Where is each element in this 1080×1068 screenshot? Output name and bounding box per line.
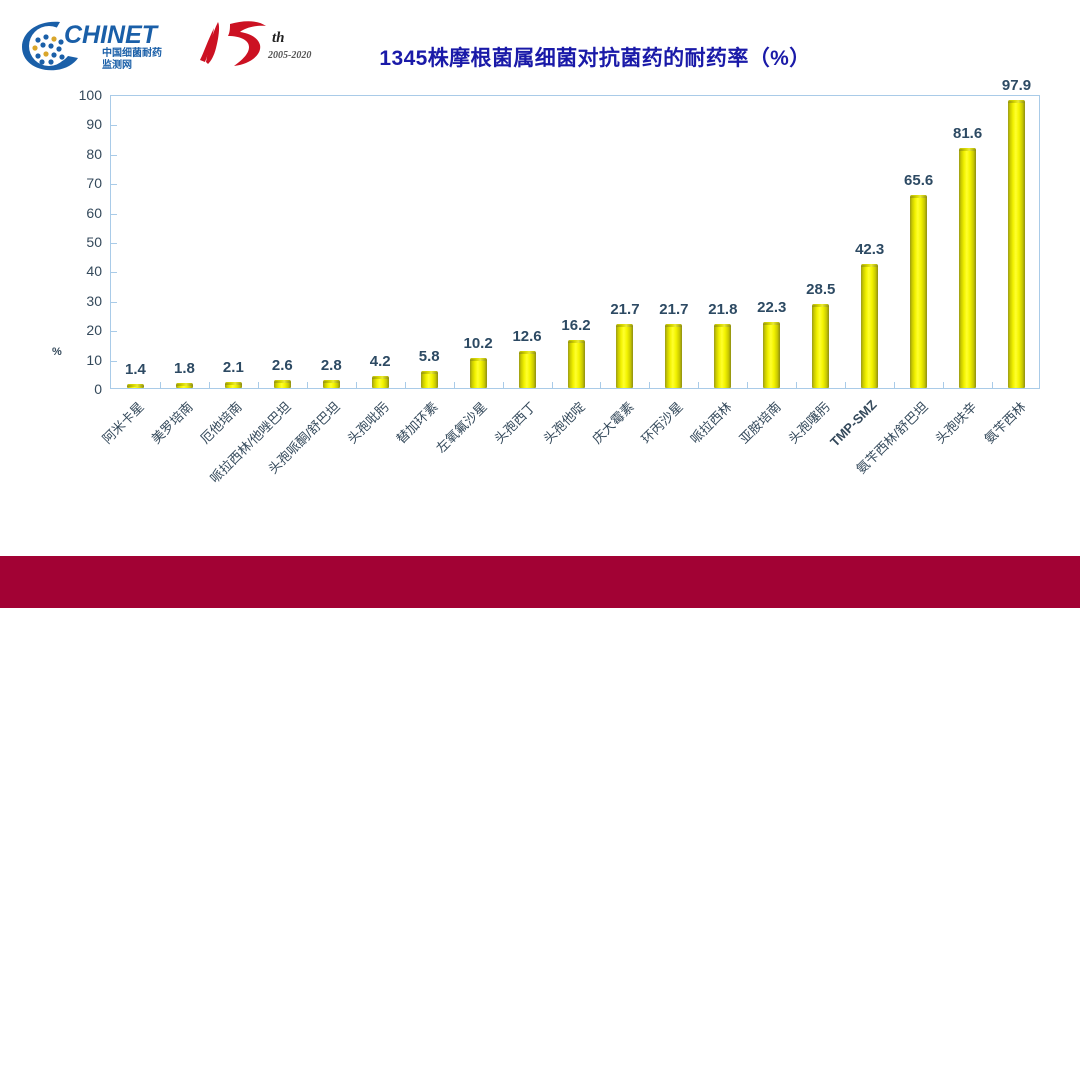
bar xyxy=(470,358,487,388)
bars-layer: 1.41.82.12.62.84.25.810.212.616.221.721.… xyxy=(111,96,1039,388)
y-tick-label: 100 xyxy=(60,87,102,103)
bar-cap xyxy=(763,322,780,325)
x-tick-mark xyxy=(845,382,846,388)
x-tick-mark xyxy=(943,382,944,388)
bar xyxy=(665,324,682,388)
bar-value-label: 21.7 xyxy=(659,301,688,318)
bar xyxy=(274,380,291,388)
bar-value-label: 65.6 xyxy=(904,172,933,189)
bar-value-label: 1.8 xyxy=(174,360,195,377)
bar-cap xyxy=(323,380,340,383)
bar-value-label: 28.5 xyxy=(806,281,835,298)
bar-cap xyxy=(616,324,633,327)
bar xyxy=(812,304,829,388)
y-tick-mark xyxy=(111,361,117,362)
bar-value-label: 2.1 xyxy=(223,359,244,376)
y-tick-mark xyxy=(111,272,117,273)
bar xyxy=(372,376,389,388)
y-tick-label: 30 xyxy=(60,293,102,309)
bar-value-label: 21.8 xyxy=(708,301,737,318)
bar-value-label: 21.7 xyxy=(610,301,639,318)
x-tick-mark xyxy=(649,382,650,388)
bar-cap xyxy=(225,382,242,385)
bar-cap xyxy=(274,380,291,383)
bar-value-label: 16.2 xyxy=(561,317,590,334)
x-tick-mark xyxy=(356,382,357,388)
x-tick-mark xyxy=(552,382,553,388)
plot-area: 1.41.82.12.62.84.25.810.212.616.221.721.… xyxy=(110,95,1040,389)
bar-cap xyxy=(372,376,389,379)
bar-value-label: 12.6 xyxy=(512,328,541,345)
bar-cap xyxy=(910,195,927,198)
y-tick-label: 0 xyxy=(60,381,102,397)
bar-value-label: 5.8 xyxy=(419,348,440,365)
y-tick-mark xyxy=(111,243,117,244)
bar-value-label: 97.9 xyxy=(1002,77,1031,94)
15th-anniversary-logo: th 2005-2020 xyxy=(192,14,322,72)
y-tick-label: 40 xyxy=(60,263,102,279)
y-tick-label: 90 xyxy=(60,116,102,132)
x-tick-mark xyxy=(209,382,210,388)
y-tick-label: 60 xyxy=(60,205,102,221)
bar xyxy=(568,340,585,388)
bar-cap xyxy=(665,324,682,327)
chart-container: % 0102030405060708090100 1.41.82.12.62.8… xyxy=(0,88,1080,550)
x-axis-category-labels: 阿米卡星美罗培南厄他培南哌拉西林/他唑巴坦头孢哌酮/舒巴坦头孢吡肟替加环素左氧氟… xyxy=(110,391,1040,551)
bar-cap xyxy=(1008,100,1025,103)
x-tick-mark xyxy=(992,382,993,388)
anniversary-years: 2005-2020 xyxy=(267,50,311,61)
bar-value-label: 2.6 xyxy=(272,357,293,374)
bar xyxy=(861,264,878,388)
chart-title: 1345株摩根菌属细菌对抗菌药的耐药率（%） xyxy=(340,42,850,72)
y-tick-mark xyxy=(111,184,117,185)
bar-cap xyxy=(470,358,487,361)
bar xyxy=(127,384,144,388)
chinet-subtitle-line2: 监测网 xyxy=(102,58,132,71)
x-tick-mark xyxy=(600,382,601,388)
bar xyxy=(616,324,633,388)
bar xyxy=(421,371,438,388)
x-tick-mark xyxy=(160,382,161,388)
bar xyxy=(910,195,927,388)
y-tick-mark xyxy=(111,155,117,156)
x-tick-mark xyxy=(307,382,308,388)
chinet-logo: CHINET 中国细菌耐药 监测网 xyxy=(16,14,186,76)
x-tick-mark xyxy=(258,382,259,388)
page-header: CHINET 中国细菌耐药 监测网 th 2005-2020 1345株摩根菌属… xyxy=(0,0,1080,88)
bar-cap xyxy=(714,324,731,327)
bar-value-label: 81.6 xyxy=(953,125,982,142)
bar-cap xyxy=(861,264,878,267)
x-tick-mark xyxy=(698,382,699,388)
y-axis-tick-labels: 0102030405060708090100 xyxy=(60,95,102,389)
x-tick-mark xyxy=(405,382,406,388)
bar-value-label: 10.2 xyxy=(463,335,492,352)
bar-cap xyxy=(519,351,536,354)
bar-cap xyxy=(568,340,585,343)
y-tick-mark xyxy=(111,331,117,332)
y-tick-label: 20 xyxy=(60,322,102,338)
y-tick-mark xyxy=(111,125,117,126)
x-tick-mark xyxy=(796,382,797,388)
bar-value-label: 1.4 xyxy=(125,361,146,378)
bar-value-label: 4.2 xyxy=(370,353,391,370)
bar-cap xyxy=(127,384,144,387)
bar xyxy=(323,380,340,388)
x-tick-mark xyxy=(454,382,455,388)
x-tick-mark xyxy=(894,382,895,388)
bar-cap xyxy=(176,383,193,386)
bar xyxy=(1008,100,1025,388)
bar xyxy=(714,324,731,388)
bar xyxy=(959,148,976,388)
y-tick-mark xyxy=(111,214,117,215)
chinet-wordmark: CHINET xyxy=(64,21,160,49)
y-tick-label: 50 xyxy=(60,234,102,250)
bar-cap xyxy=(959,148,976,151)
bar-value-label: 2.8 xyxy=(321,357,342,374)
bar-value-label: 22.3 xyxy=(757,299,786,316)
anniversary-suffix: th xyxy=(272,30,285,46)
x-tick-mark xyxy=(503,382,504,388)
bar xyxy=(176,383,193,388)
y-tick-label: 10 xyxy=(60,352,102,368)
bar xyxy=(519,351,536,388)
y-tick-label: 80 xyxy=(60,146,102,162)
y-tick-mark xyxy=(111,302,117,303)
bar xyxy=(225,382,242,388)
bar xyxy=(763,322,780,388)
x-tick-mark xyxy=(747,382,748,388)
footer-band xyxy=(0,556,1080,608)
bar-cap xyxy=(421,371,438,374)
bar-cap xyxy=(812,304,829,307)
y-tick-label: 70 xyxy=(60,175,102,191)
chinet-subtitle-line1: 中国细菌耐药 xyxy=(102,46,162,59)
bar-value-label: 42.3 xyxy=(855,241,884,258)
